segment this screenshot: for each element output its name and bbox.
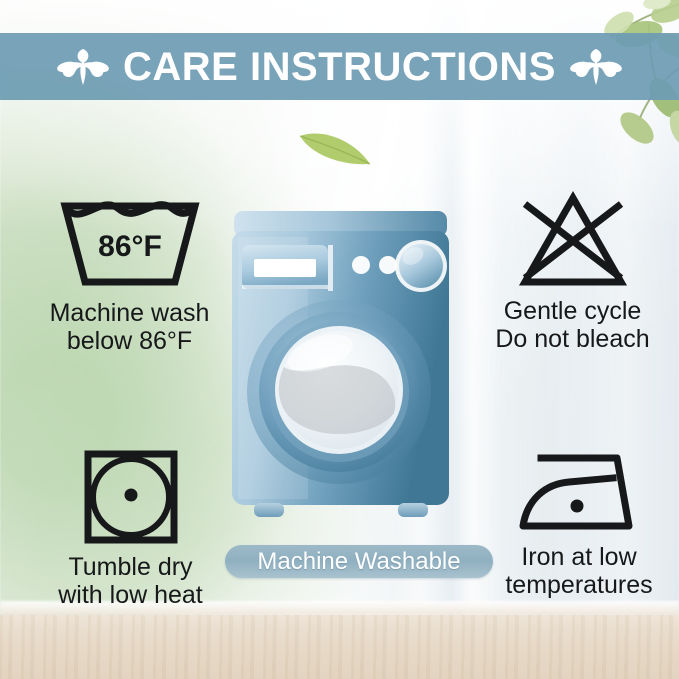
wash-tub-icon: 86°F [57,196,203,292]
care-instructions-poster: CARE INSTRUCTIONS 86°F Machine wash belo… [0,0,679,679]
care-symbol-iron: Iron at low temperatures [480,448,678,599]
wash-temperature-label: 86°F [98,230,162,263]
care-symbol-tumble-dry: Tumble dry with low heat [28,448,233,609]
floating-leaf-decoration [296,122,374,170]
care-symbol-machine-wash: 86°F Machine wash below 86°F [22,196,237,355]
control-knob [395,240,447,292]
caption-machine-wash: Machine wash below 86°F [50,299,210,355]
fleur-de-lis-icon [570,45,622,89]
iron-icon [517,448,641,536]
caption-line-1: Gentle cycle [504,297,642,325]
caption-tumble-dry: Tumble dry with low heat [58,553,203,609]
caption-line-2: below 86°F [67,327,192,355]
caption-line-1: Iron at low [521,543,636,571]
page-title: CARE INSTRUCTIONS [123,47,556,87]
caption-iron: Iron at low temperatures [505,543,652,599]
machine-washable-badge: Machine Washable [225,545,493,578]
fleur-de-lis-icon [57,45,109,89]
care-symbol-do-not-bleach: Gentle cycle Do not bleach [470,190,675,353]
machine-washable-label: Machine Washable [257,550,460,574]
detergent-drawer [242,245,333,291]
caption-line-1: Tumble dry [68,553,192,581]
caption-line-2: Do not bleach [495,325,649,353]
caption-do-not-bleach: Gentle cycle Do not bleach [495,297,649,353]
washer-door [247,300,431,484]
wooden-table-surface [0,615,679,679]
caption-line-2: temperatures [505,571,652,599]
caption-line-2: with low heat [58,581,203,609]
header-banner: CARE INSTRUCTIONS [0,33,679,100]
washing-machine-illustration [228,207,453,532]
crossed-triangle-icon [517,190,629,290]
caption-line-1: Machine wash [50,299,210,327]
tumble-dry-icon [82,448,180,546]
machine-feet [254,503,428,517]
